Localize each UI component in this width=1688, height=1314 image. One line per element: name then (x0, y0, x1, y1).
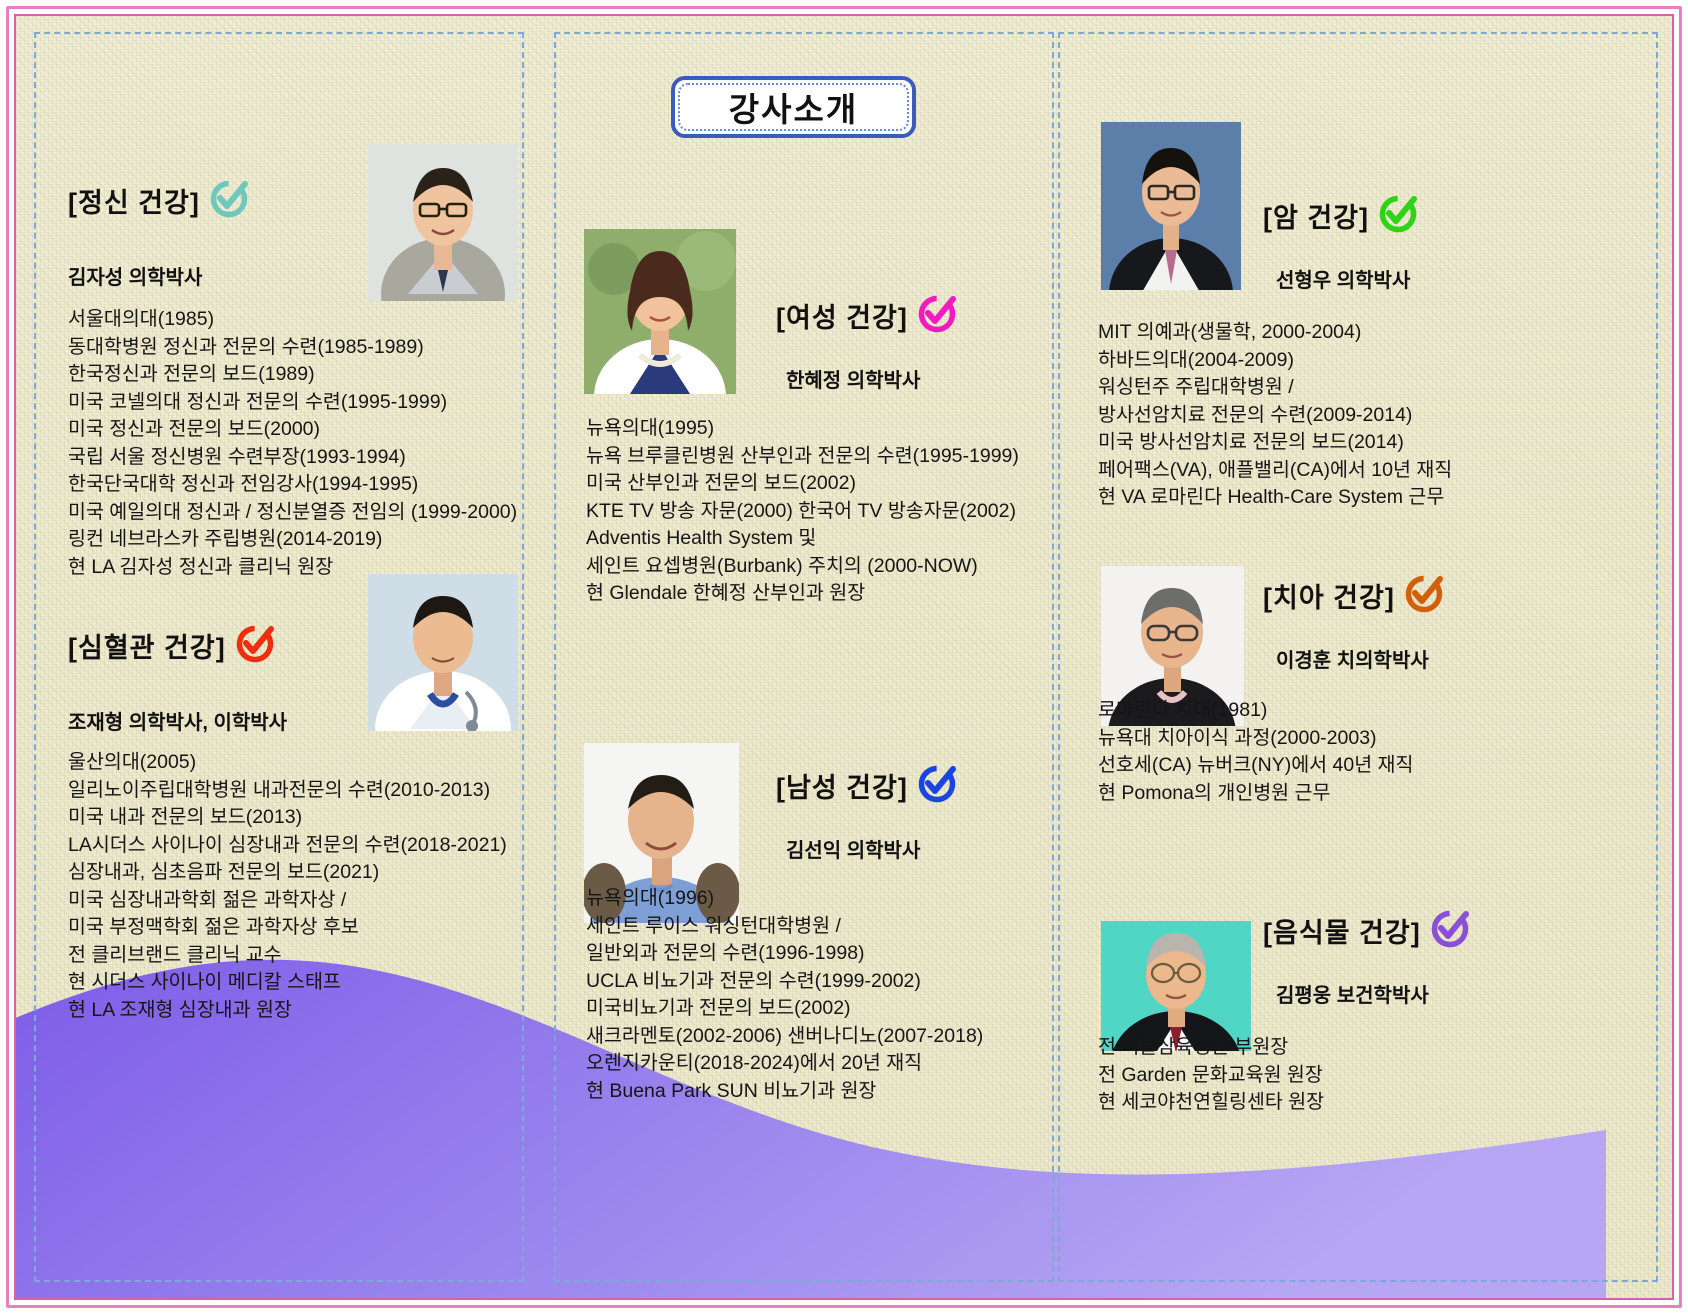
speaker-name-mental: 김자성 의학박사 (68, 261, 517, 290)
check-circle-icon-cardio (234, 621, 278, 670)
speaker-block-dental: [치아 건강] 이경훈 치의학박사 로마린다 치대(1981) 뉴욕대 치아이식… (1098, 571, 1447, 807)
check-circle-icon-women (916, 291, 960, 340)
speaker-category-row-men: [남성 건강] (776, 761, 983, 810)
speaker-category-row-food: [음식물 건강] (1263, 906, 1473, 955)
speaker-bio-men: 뉴욕의대(1996) 세인트 루이스 워싱턴대학병원 / 일반외과 전문의 수련… (586, 885, 983, 1105)
speaker-category-row-cancer: [암 건강] (1263, 191, 1452, 240)
speaker-category-row-mental: [정신 건강] (68, 176, 517, 225)
speaker-name-dental: 이경훈 치의학박사 (1276, 644, 1447, 673)
check-circle-icon-mental (208, 176, 252, 225)
speaker-block-mental: [정신 건강] 김자성 의학박사 서울대의대(1985) 동대학병원 정신과 전… (68, 176, 517, 581)
speaker-category-row-women: [여성 건강] (776, 291, 1019, 340)
speaker-category-row-cardio: [심혈관 건강] (68, 621, 507, 670)
check-circle-icon-food (1429, 906, 1473, 955)
check-circle-icon-cancer (1377, 191, 1421, 240)
check-circle-icon-dental (1403, 571, 1447, 620)
speaker-name-women: 한혜정 의학박사 (786, 364, 1019, 393)
speaker-category-cancer: [암 건강] (1263, 196, 1369, 235)
speaker-category-row-dental: [치아 건강] (1263, 571, 1447, 620)
speaker-bio-cancer: MIT 의예과(생물학, 2000-2004) 하바드의대(2004-2009)… (1098, 319, 1452, 512)
speaker-name-food: 김평웅 보건학박사 (1276, 979, 1473, 1008)
speaker-category-mental: [정신 건강] (68, 181, 200, 220)
speaker-category-men: [남성 건강] (776, 766, 908, 805)
poster-inner-frame: 강사소개 [정신 건강] (14, 14, 1674, 1300)
poster-canvas: 강사소개 [정신 건강] (0, 0, 1688, 1314)
page-title-box: 강사소개 (671, 76, 916, 138)
speaker-category-dental: [치아 건강] (1263, 576, 1395, 615)
speaker-bio-food: 전 서울삼육병원 부원장 전 Garden 문화교육원 원장 현 세코야천연힐링… (1098, 1034, 1473, 1117)
speaker-bio-mental: 서울대의대(1985) 동대학병원 정신과 전문의 수련(1985-1989) … (68, 306, 517, 581)
page-title: 강사소개 (729, 83, 858, 131)
speaker-block-food: [음식물 건강] 김평웅 보건학박사 전 서울삼육병원 부원장 전 Garden… (1098, 906, 1473, 1117)
speaker-block-cardio: [심혈관 건강] 조재형 의학박사, 이학박사 울산의대(2005) 일리노이주… (68, 621, 507, 1024)
check-circle-icon-men (916, 761, 960, 810)
speaker-category-women: [여성 건강] (776, 296, 908, 335)
speaker-category-cardio: [심혈관 건강] (68, 626, 226, 665)
speaker-block-women: [여성 건강] 한혜정 의학박사 뉴욕의대(1995) 뉴욕 브루클린병원 산부… (586, 291, 1019, 608)
speaker-name-cancer: 선형우 의학박사 (1276, 264, 1452, 293)
speaker-name-men: 김선익 의학박사 (786, 834, 983, 863)
speaker-category-food: [음식물 건강] (1263, 911, 1421, 950)
speaker-bio-dental: 로마린다 치대(1981) 뉴욕대 치아이식 과정(2000-2003) 선호세… (1098, 697, 1447, 807)
speaker-bio-cardio: 울산의대(2005) 일리노이주립대학병원 내과전문의 수련(2010-2013… (68, 749, 507, 1024)
speaker-name-cardio: 조재형 의학박사, 이학박사 (68, 706, 507, 735)
speaker-bio-women: 뉴욕의대(1995) 뉴욕 브루클린병원 산부인과 전문의 수련(1995-19… (586, 415, 1019, 608)
speaker-block-cancer: [암 건강] 선형우 의학박사 MIT 의예과(생물학, 2000-2004) … (1098, 191, 1452, 512)
speaker-block-men: [남성 건강] 김선익 의학박사 뉴욕의대(1996) 세인트 루이스 워싱턴대… (586, 761, 983, 1105)
